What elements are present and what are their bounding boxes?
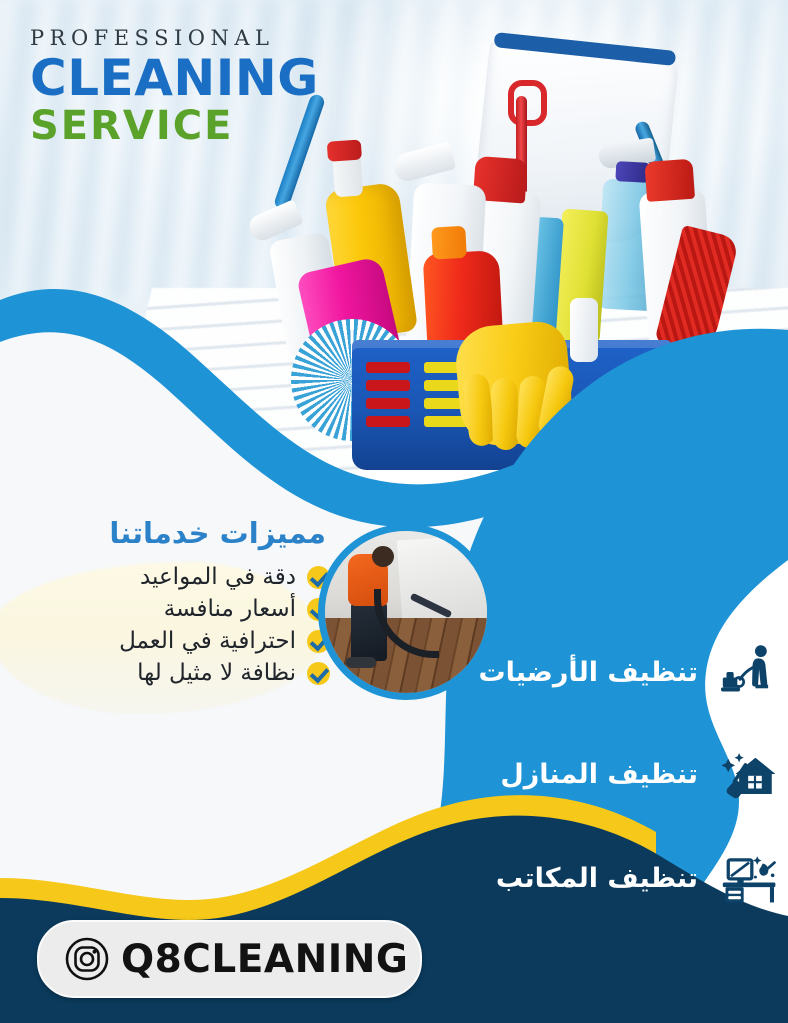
basket-slot: [366, 416, 410, 427]
feature-item: احترافية في العمل: [18, 628, 330, 654]
basket-slot: [366, 398, 410, 409]
service-label: تنظيف المكاتب: [400, 863, 712, 894]
instagram-handle-text: Q8CLEANING: [121, 937, 408, 982]
feature-label: دقة في المواعيد: [140, 564, 296, 590]
instagram-handle-badge[interactable]: Q8CLEANING: [37, 920, 422, 998]
feature-item: نظافة لا مثيل لها: [18, 660, 330, 686]
service-item-homes[interactable]: تنظيف المنازل: [400, 736, 788, 812]
small-white-bottle: [570, 298, 598, 362]
worker-photo: [318, 524, 494, 700]
basket-slot: [366, 362, 410, 373]
service-item-offices[interactable]: تنظيف المكاتب: [400, 840, 788, 916]
worker-shoe: [346, 657, 376, 668]
cleaning-supplies-illustration: [270, 40, 710, 420]
feature-label: نظافة لا مثيل لها: [137, 660, 296, 686]
red-brush-loop: [508, 80, 547, 126]
feature-item: دقة في المواعيد: [18, 564, 330, 590]
instagram-icon: [65, 937, 109, 981]
service-label: تنظيف المنازل: [400, 759, 712, 790]
features-title: مميزات خدماتنا: [18, 516, 326, 550]
header-headline: CLEANING: [30, 53, 319, 104]
worker-head: [372, 546, 394, 567]
cleaning-service-flyer: PROFESSIONAL CLEANING SERVICE مميزات خدم…: [0, 0, 788, 1023]
feature-label: احترافية في العمل: [119, 628, 296, 654]
header-kicker: PROFESSIONAL: [30, 28, 319, 49]
house-broom-icon: [712, 736, 788, 812]
floor-polisher-icon: [712, 634, 788, 710]
feature-label: أسعار منافسة: [164, 596, 296, 622]
features-panel: مميزات خدماتنا دقة في المواعيد أسعار منا…: [18, 516, 338, 692]
feature-item: أسعار منافسة: [18, 596, 330, 622]
basket-slot: [366, 380, 410, 391]
flyer-header: PROFESSIONAL CLEANING SERVICE: [30, 28, 319, 147]
glove-finger: [491, 378, 519, 451]
header-subline: SERVICE: [30, 105, 319, 147]
office-desk-icon: [712, 840, 788, 916]
